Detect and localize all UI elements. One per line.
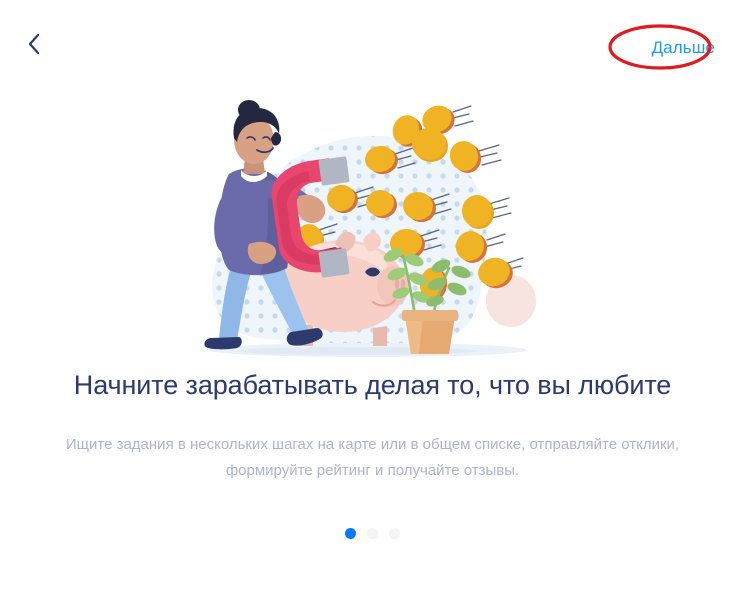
back-button[interactable] xyxy=(16,26,52,62)
chevron-left-icon xyxy=(27,32,41,56)
next-button-wrap: Дальше xyxy=(646,28,721,66)
next-button[interactable]: Дальше xyxy=(646,37,721,58)
top-bar: Дальше xyxy=(0,0,745,92)
illustration xyxy=(0,88,745,370)
pagination-dot-2[interactable] xyxy=(367,528,378,539)
ground-shadow xyxy=(207,343,527,357)
pagination-dot-3[interactable] xyxy=(389,528,400,539)
pagination-dot-1[interactable] xyxy=(345,528,356,539)
illustration-svg xyxy=(187,88,559,370)
pagination-dots xyxy=(0,528,745,539)
page-title: Начните зарабатывать делая то, что вы лю… xyxy=(0,368,745,402)
page-description: Ищите задания в нескольких шагах на карт… xyxy=(60,432,685,484)
